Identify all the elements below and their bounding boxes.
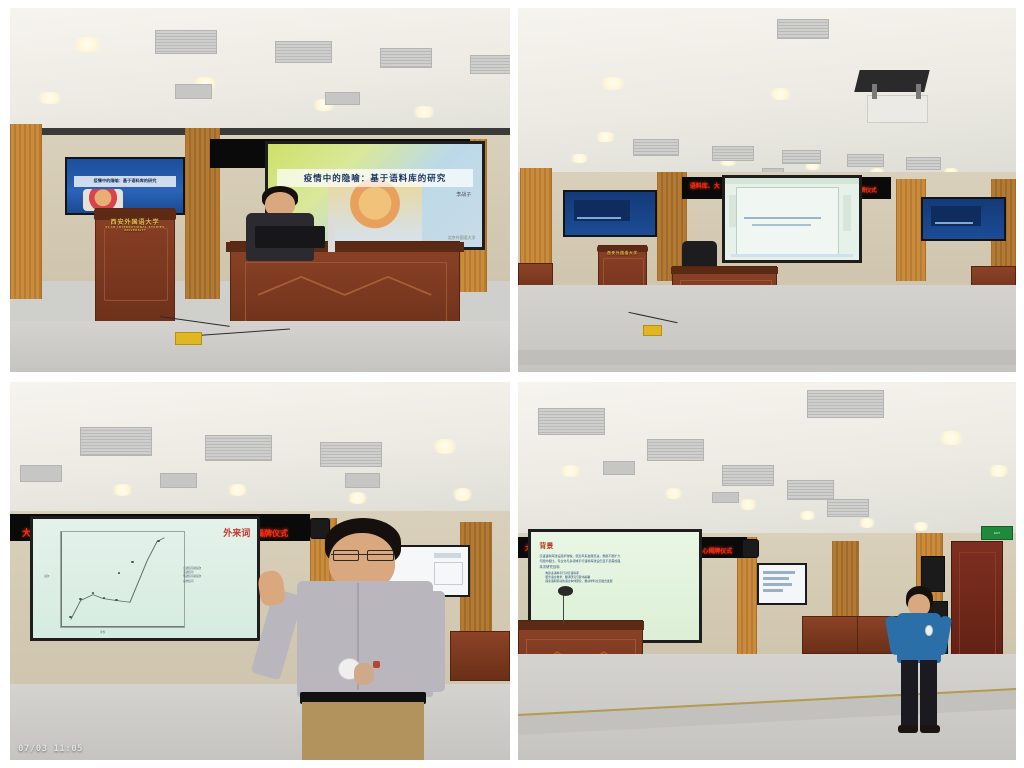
pointing-hand	[256, 570, 285, 607]
water-bottle	[328, 219, 336, 252]
led-banner-text-right: 心揭牌仪式	[702, 546, 732, 555]
chart-plot-area	[60, 531, 185, 628]
slide-signature: 李战子	[456, 191, 471, 198]
holding-hand	[354, 663, 375, 685]
monitor-slide-title: 疫情中的隐喻：基于语料库的研究	[94, 178, 157, 184]
lectern-name-plate: 西安外国语大学 XI'AN INTERNATIONAL STUDIES UNIV…	[95, 217, 175, 232]
ceiling-projector	[867, 95, 929, 122]
side-monitor: 疫情中的隐喻：基于语料库的研究	[65, 157, 185, 215]
chart-xlabel: 年份	[100, 630, 105, 634]
chart-ylabel: 频次	[44, 574, 49, 578]
photo-panel-top-left: 疫情中的隐喻：基于语料库的研究 北京外国语大学 李战子 疫情中的隐喻：基于语料库…	[10, 8, 510, 372]
chart-legend: 日语借词总频次 英语借词 俄语借词总频次 其他借词	[183, 567, 250, 585]
speaker-person	[270, 518, 460, 760]
led-banner-text-left: 语料库、大	[690, 181, 720, 190]
slide-logo-text: 北京外国语大学	[448, 235, 476, 241]
projection-screen	[722, 175, 861, 262]
side-monitor-left	[563, 190, 658, 237]
side-monitor	[757, 563, 807, 605]
photo-panel-bottom-left: 大 中心揭牌仪式	[10, 382, 510, 760]
photo-panel-top-right: 语料库、大 心揭牌仪式	[518, 8, 1016, 372]
laptop	[255, 226, 325, 248]
speaker-person	[887, 586, 952, 737]
photo-panel-bottom-right: 大 心揭牌仪式 背景 汉语语料库建设起步较晚，但近年来发展迅速，规模不断扩大 与…	[518, 382, 1016, 760]
wall-speaker	[742, 539, 759, 558]
side-monitor-right	[921, 197, 1006, 241]
lectern-name-plate: 西安外国语大学	[598, 250, 648, 255]
mic-head	[558, 586, 573, 595]
presenter-person	[240, 186, 320, 259]
door-panel	[959, 552, 996, 660]
slide-bullets: 背景 汉语语料库建设起步较晚，但近年来发展迅速，规模不断扩大 与国外相比，专业化…	[539, 541, 694, 584]
side-table-left	[802, 616, 862, 654]
photo-timestamp: 07/03 11:05	[18, 744, 83, 754]
projection-screen: 外来词 日语借词总频次 英语借词 俄语借词总频次 其他借词 年份 频次	[30, 516, 260, 641]
wristband	[373, 661, 381, 668]
photo-collage: 疫情中的隐喻：基于语料库的研究 北京外国语大学 李战子 疫情中的隐喻：基于语料库…	[0, 0, 1024, 768]
exit-sign: EXIT	[981, 526, 1013, 541]
slide-red-title: 外来词	[223, 526, 250, 539]
slide-title: 疫情中的隐喻：基于语料库的研究	[304, 172, 447, 184]
